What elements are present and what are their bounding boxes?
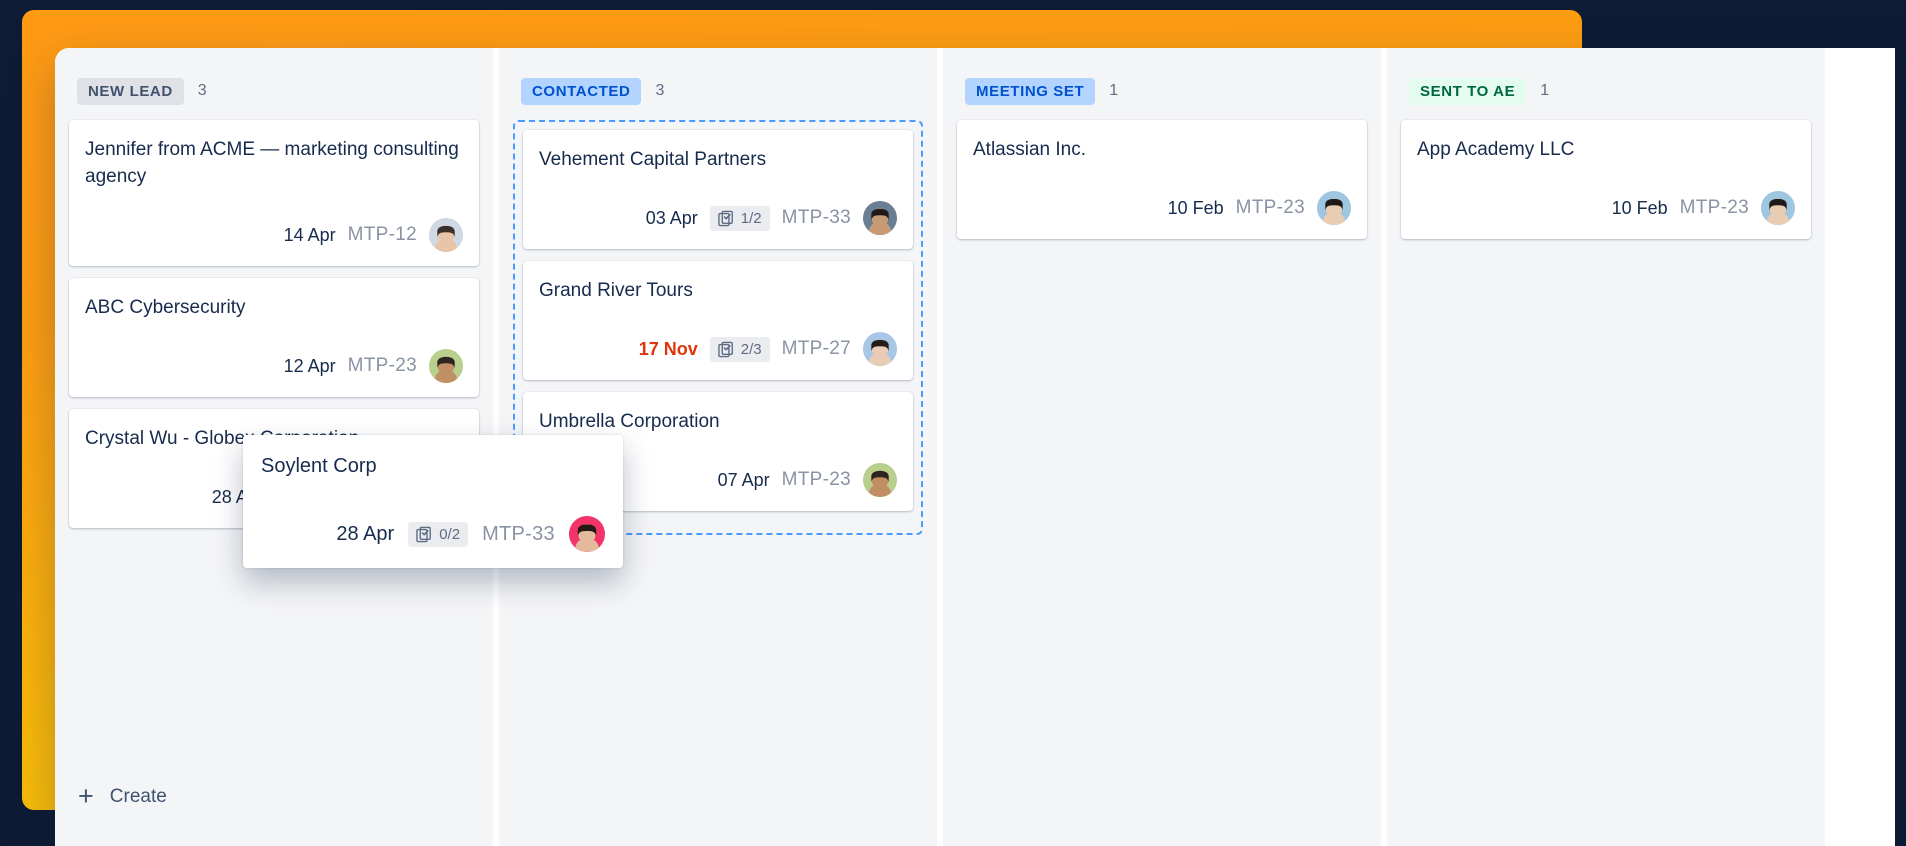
column-divider	[937, 48, 943, 846]
card-title: Grand River Tours	[539, 277, 897, 304]
card-title: Jennifer from ACME — marketing consultin…	[85, 136, 463, 190]
column-header: MEETING SET1	[957, 74, 1367, 108]
avatar[interactable]	[863, 332, 897, 366]
card-ticket-id[interactable]: MTP-23	[782, 469, 851, 491]
column-card-list[interactable]: Atlassian Inc.10 FebMTP-23	[957, 120, 1367, 239]
column-card-count: 3	[198, 82, 207, 100]
column-header: CONTACTED3	[513, 74, 923, 108]
column-divider	[1381, 48, 1387, 846]
dragged-card-footer: 28 Apr0/2MTP-33	[261, 516, 605, 552]
column-card-count: 3	[655, 82, 664, 100]
card-due-date: 12 Apr	[284, 356, 336, 377]
avatar-face-icon	[429, 349, 463, 383]
dragged-card-due-date: 28 Apr	[336, 523, 394, 546]
column-status-badge[interactable]: NEW LEAD	[77, 78, 184, 105]
kanban-card[interactable]: App Academy LLC10 FebMTP-23	[1401, 120, 1811, 239]
avatar[interactable]	[1317, 191, 1351, 225]
create-button[interactable]: + Create	[68, 775, 177, 818]
avatar-face-icon	[863, 332, 897, 366]
card-due-date: 03 Apr	[646, 208, 698, 229]
plus-icon: +	[78, 783, 94, 810]
avatar[interactable]	[863, 463, 897, 497]
kanban-column-sent-to-ae: SENT TO AE1App Academy LLC10 FebMTP-23	[1387, 48, 1825, 846]
kanban-card[interactable]: ABC Cybersecurity12 AprMTP-23	[69, 278, 479, 397]
column-card-count: 1	[1109, 82, 1118, 100]
column-card-count: 1	[1540, 82, 1549, 100]
card-due-date: 07 Apr	[718, 470, 770, 491]
card-due-date-overdue: 17 Nov	[639, 339, 698, 360]
kanban-card[interactable]: Jennifer from ACME — marketing consultin…	[69, 120, 479, 266]
card-title: Vehement Capital Partners	[539, 146, 897, 173]
kanban-card[interactable]: Grand River Tours17 Nov2/3MTP-27	[523, 261, 913, 380]
avatar-face-icon	[1317, 191, 1351, 225]
dragged-card-soylent-corp[interactable]: Soylent Corp28 Apr0/2MTP-33	[243, 435, 623, 568]
create-button-label: Create	[110, 786, 167, 808]
card-footer: 14 AprMTP-12	[85, 218, 463, 252]
column-status-badge[interactable]: CONTACTED	[521, 78, 641, 105]
kanban-card[interactable]: Vehement Capital Partners03 Apr1/2MTP-33	[523, 130, 913, 249]
card-due-date: 10 Feb	[1612, 198, 1668, 219]
checklist-badge: 2/3	[710, 337, 770, 362]
column-header: SENT TO AE1	[1401, 74, 1811, 108]
avatar[interactable]	[569, 516, 605, 552]
kanban-card[interactable]: Atlassian Inc.10 FebMTP-23	[957, 120, 1367, 239]
checklist-count: 1/2	[741, 210, 762, 227]
card-footer: 10 FebMTP-23	[1417, 191, 1795, 225]
checklist-badge: 1/2	[710, 206, 770, 231]
avatar-face-icon	[569, 516, 605, 552]
checklist-count: 2/3	[741, 341, 762, 358]
card-ticket-id[interactable]: MTP-23	[348, 355, 417, 377]
avatar[interactable]	[429, 349, 463, 383]
card-footer: 10 FebMTP-23	[973, 191, 1351, 225]
board-stage: NEW LEAD3Jennifer from ACME — marketing …	[0, 0, 1906, 846]
card-ticket-id[interactable]: MTP-23	[1236, 197, 1305, 219]
card-due-date: 14 Apr	[284, 225, 336, 246]
checklist-icon	[718, 341, 735, 358]
checklist-count: 0/2	[439, 526, 460, 543]
checklist-icon	[416, 526, 433, 543]
card-ticket-id[interactable]: MTP-12	[348, 224, 417, 246]
card-title: App Academy LLC	[1417, 136, 1795, 163]
column-card-list[interactable]: App Academy LLC10 FebMTP-23	[1401, 120, 1811, 239]
dragged-card-title: Soylent Corp	[261, 453, 605, 480]
card-ticket-id[interactable]: MTP-33	[782, 207, 851, 229]
card-footer: 03 Apr1/2MTP-33	[539, 201, 897, 235]
column-header: NEW LEAD3	[69, 74, 479, 108]
card-ticket-id[interactable]: MTP-23	[1680, 197, 1749, 219]
avatar-face-icon	[863, 463, 897, 497]
column-status-badge[interactable]: MEETING SET	[965, 78, 1095, 105]
avatar-face-icon	[863, 201, 897, 235]
card-title: ABC Cybersecurity	[85, 294, 463, 321]
card-footer: 17 Nov2/3MTP-27	[539, 332, 897, 366]
card-title: Atlassian Inc.	[973, 136, 1351, 163]
card-due-date: 10 Feb	[1168, 198, 1224, 219]
avatar-face-icon	[1761, 191, 1795, 225]
checklist-badge: 0/2	[408, 522, 468, 547]
card-footer: 12 AprMTP-23	[85, 349, 463, 383]
card-ticket-id[interactable]: MTP-27	[782, 338, 851, 360]
card-title: Umbrella Corporation	[539, 408, 897, 435]
avatar-face-icon	[429, 218, 463, 252]
avatar[interactable]	[863, 201, 897, 235]
avatar[interactable]	[429, 218, 463, 252]
column-status-badge[interactable]: SENT TO AE	[1409, 78, 1526, 105]
kanban-column-meeting-set: MEETING SET1Atlassian Inc.10 FebMTP-23	[943, 48, 1381, 846]
checklist-icon	[718, 210, 735, 227]
dragged-card-ticket-id[interactable]: MTP-33	[482, 523, 555, 546]
avatar[interactable]	[1761, 191, 1795, 225]
